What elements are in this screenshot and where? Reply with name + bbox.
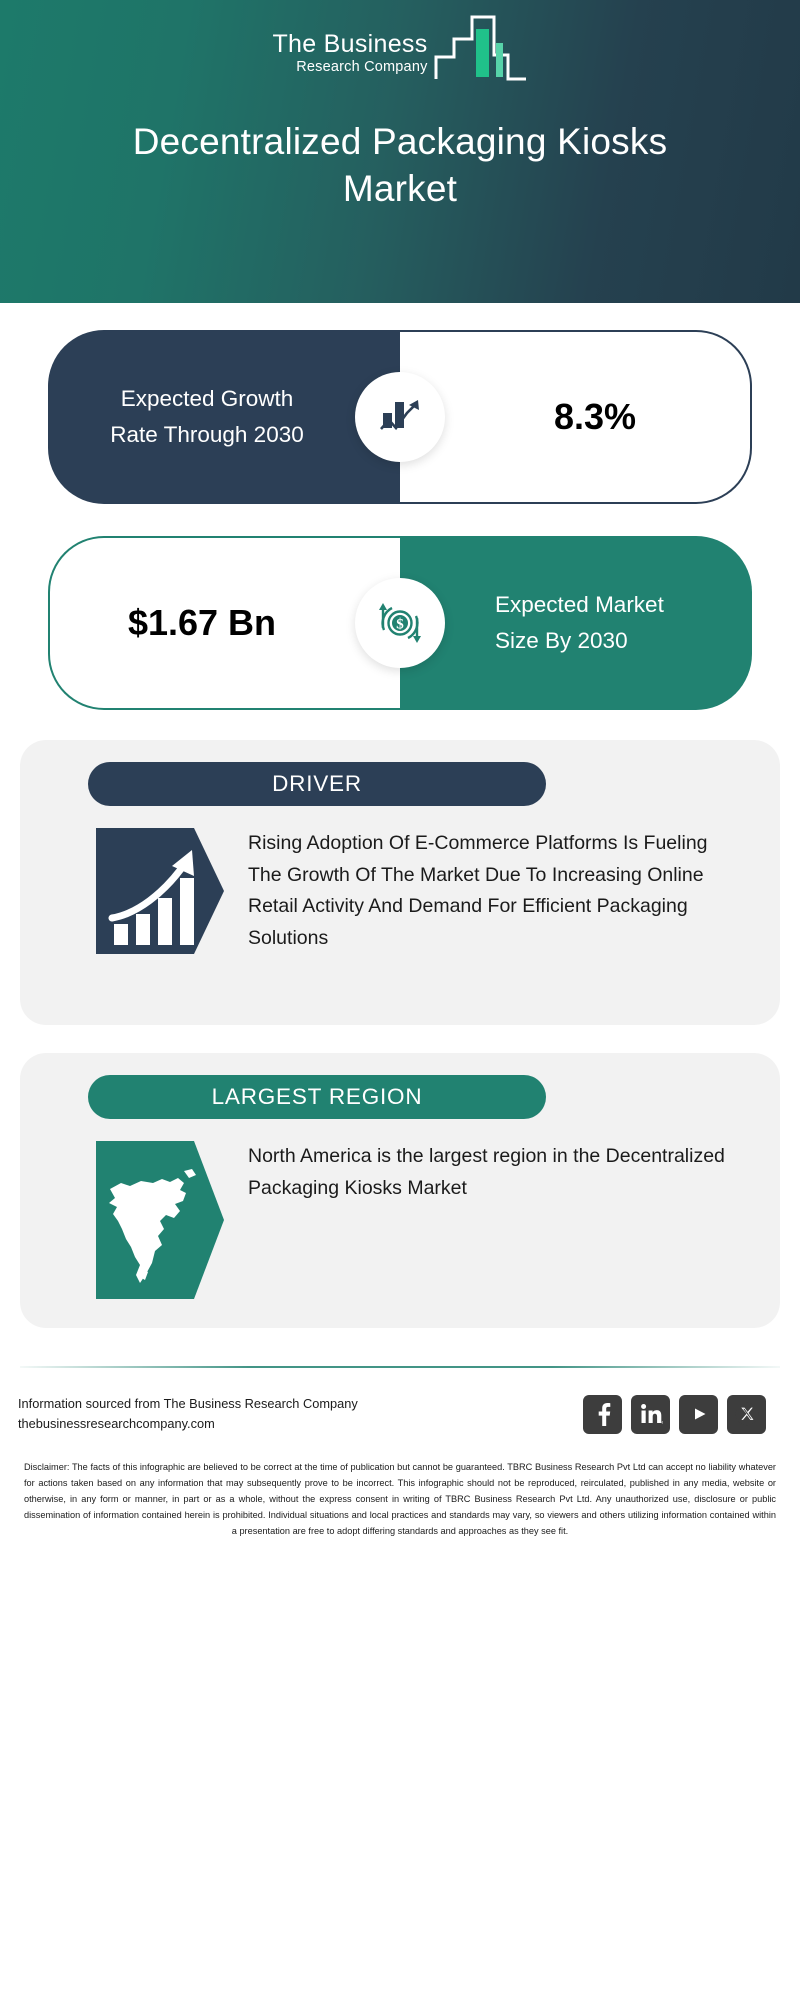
stat-value-growth-rate: 8.3% <box>514 394 636 440</box>
panel-largest-region: LARGEST REGION North America is the larg… <box>20 1053 780 1328</box>
logo-bar-chart-icon <box>432 11 528 88</box>
company-logo: The Business Research Company <box>272 16 527 88</box>
footer-source-line1: Information sourced from The Business Re… <box>18 1394 358 1414</box>
growth-bars-arrow-icon <box>96 828 224 959</box>
disclaimer-text: Disclaimer: The facts of this infographi… <box>24 1460 776 1539</box>
x-twitter-icon[interactable] <box>727 1395 766 1434</box>
header-banner: The Business Research Company Decentrali… <box>0 0 800 303</box>
youtube-icon[interactable] <box>679 1395 718 1434</box>
logo-line-research-company: Research Company <box>296 59 427 76</box>
stat-card-value-side: $1.67 Bn <box>48 536 400 710</box>
footer-source-line2[interactable]: thebusinessresearchcompany.com <box>18 1414 358 1434</box>
linkedin-icon[interactable]: ® <box>631 1395 670 1434</box>
panel-body-driver: Rising Adoption Of E-Commerce Platforms … <box>20 806 780 959</box>
footer-row: Information sourced from The Business Re… <box>0 1368 800 1434</box>
stat-label-growth-rate: Expected Growth Rate Through 2030 <box>109 381 339 454</box>
dollar-circulation-icon: $ <box>355 578 445 668</box>
logo-wordmark: The Business Research Company <box>272 31 427 88</box>
stat-cards: Expected Growth Rate Through 2030 8.3% $… <box>0 330 800 710</box>
facebook-icon[interactable] <box>583 1395 622 1434</box>
panel-heading-driver: DRIVER <box>88 762 546 806</box>
stat-card-value-side: 8.3% <box>400 330 752 504</box>
social-links: ® <box>583 1395 766 1434</box>
stat-card-market-size: $1.67 Bn Expected Market Size By 2030 $ <box>48 536 752 710</box>
svg-text:®: ® <box>661 1420 663 1425</box>
page-title: Decentralized Packaging Kiosks Market <box>80 118 720 213</box>
bar-chart-arrow-up-icon <box>355 372 445 462</box>
panel-heading-largest-region: LARGEST REGION <box>88 1075 546 1119</box>
panel-body-largest-region: North America is the largest region in t… <box>20 1119 780 1304</box>
stat-label-market-size: Expected Market Size By 2030 <box>461 587 691 660</box>
stat-card-label-side: Expected Growth Rate Through 2030 <box>48 330 400 504</box>
stat-card-growth-rate: Expected Growth Rate Through 2030 8.3% <box>48 330 752 504</box>
logo-line-the-business: The Business <box>272 31 427 57</box>
panel-driver: DRIVER Rising Adoption Of E-Commerce Pla… <box>20 740 780 1025</box>
panel-text-driver: Rising Adoption Of E-Commerce Platforms … <box>248 828 740 954</box>
stat-card-label-side: Expected Market Size By 2030 <box>400 536 752 710</box>
panel-text-largest-region: North America is the largest region in t… <box>248 1141 740 1204</box>
stat-value-market-size: $1.67 Bn <box>128 600 322 646</box>
infographic-page: The Business Research Company Decentrali… <box>0 0 800 2000</box>
north-america-map-icon <box>96 1141 224 1304</box>
footer-source: Information sourced from The Business Re… <box>18 1394 358 1434</box>
svg-text:$: $ <box>396 617 404 633</box>
